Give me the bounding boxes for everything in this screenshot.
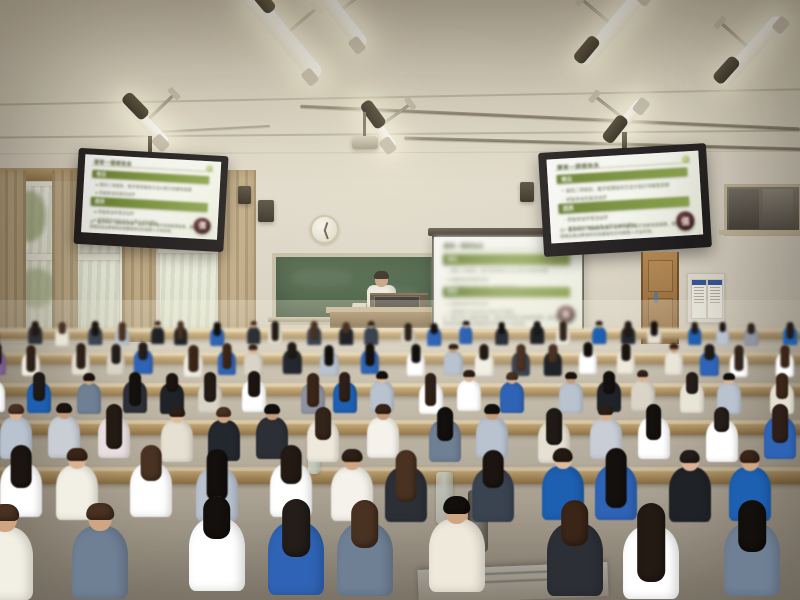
lecturer-hair (374, 271, 389, 279)
student-hair (748, 323, 755, 334)
student (724, 500, 780, 600)
student (459, 321, 473, 345)
monitor-right-panel: 德育一理想信念常见第四二项规划，推学常用指导方法计划引导能性思想积极参加实践活动… (546, 151, 703, 244)
student-hair (443, 496, 471, 513)
corridor-window (724, 184, 800, 236)
notice-line (694, 296, 704, 297)
student-hair (480, 344, 489, 360)
wall-monitor-left: 德育一理想信念常见第四二项规划，推学常用指导方法计划引导能性思想积极参加实践活动… (73, 148, 228, 252)
student-hair (307, 373, 319, 407)
student-hair (719, 322, 726, 333)
notice-line (694, 290, 704, 291)
curtain-middle (52, 170, 78, 330)
student-hair (214, 322, 221, 336)
student-hair (425, 373, 437, 405)
student-hair (288, 342, 297, 358)
student-hair (405, 323, 412, 341)
student (308, 321, 322, 345)
student (688, 322, 702, 346)
door-handle[interactable] (654, 292, 658, 303)
student-hair (315, 407, 331, 440)
audience-seating (0, 318, 800, 600)
student-hair (169, 407, 185, 417)
student-hair (272, 321, 279, 340)
student (647, 321, 661, 345)
student-hair (223, 343, 232, 368)
student-hair (119, 322, 126, 341)
notice-sheet (707, 279, 723, 319)
notice-line (694, 293, 704, 294)
student-hair (772, 404, 788, 443)
student-hair (546, 408, 562, 445)
student-hair (646, 404, 662, 439)
student-hair (411, 344, 420, 363)
student-torso (429, 519, 485, 592)
student (495, 322, 509, 346)
slide-section-header-2: 团员 (443, 287, 570, 297)
student (578, 342, 596, 375)
notice-board (687, 273, 725, 323)
ceiling-projector (352, 136, 378, 149)
student-hair (462, 321, 469, 325)
student-hair (679, 450, 700, 463)
slide-bullet: 积极参加实践活动学 (447, 276, 571, 285)
student-hair (552, 448, 573, 461)
student-hair (723, 373, 735, 380)
student-hair (484, 404, 500, 414)
student-hair (32, 321, 39, 336)
student-hair (561, 500, 589, 547)
notice-line (710, 299, 720, 300)
student-hair (204, 372, 216, 402)
notice-line (694, 299, 704, 300)
student-hair (83, 373, 95, 380)
student-torso (151, 327, 165, 345)
wall-speaker-right (520, 182, 534, 202)
student-hair (8, 404, 24, 414)
student-hair (67, 448, 88, 461)
student-hair (0, 504, 19, 521)
student (89, 321, 103, 345)
student-hair (565, 372, 577, 379)
student-hair (203, 496, 231, 540)
lecture-hall-photo: 德育一理想信念常见第四二项规划，推学常用指导方法计划引导能性思想积极参加实践活动… (0, 0, 800, 600)
notice-sheet-header (708, 280, 722, 285)
student (71, 343, 89, 376)
student-hair (651, 321, 658, 336)
student-hair (250, 321, 257, 325)
curtain-left (0, 170, 26, 338)
student-hair (787, 322, 794, 340)
wall-clock (310, 215, 339, 244)
monitor-left-panel: 德育一理想信念常见第四二项规划，推学常用指导方法计划引导能性思想积极参加实践活动… (81, 154, 221, 239)
student (745, 323, 759, 347)
student-hair (248, 371, 260, 398)
student (151, 321, 165, 345)
student-hair (734, 345, 743, 371)
student-hair (11, 445, 32, 487)
notice-line (710, 296, 720, 297)
student (783, 322, 797, 346)
notice-sheet-header (692, 280, 706, 285)
student-hair (621, 343, 630, 362)
student-hair (86, 503, 114, 520)
slide-bullet: 第四二项规划，推学常用指导方法计划引导能性思想 (447, 267, 571, 276)
student-hair (207, 449, 228, 501)
student (189, 496, 245, 597)
student-hair (705, 344, 714, 359)
student-torso (459, 326, 473, 344)
student-hair (498, 322, 505, 334)
student-hair (437, 407, 453, 441)
chalk-smudge (292, 269, 352, 287)
student-hair (177, 321, 184, 340)
student-hair (59, 322, 66, 334)
student-hair (534, 321, 541, 335)
student-hair (548, 344, 557, 363)
student (283, 342, 301, 375)
student-hair (341, 449, 362, 462)
student (72, 503, 128, 600)
student-torso (0, 527, 33, 600)
student-hair (56, 403, 72, 413)
slide-content-left: 德育一理想信念常见第四二项规划，推学常用指导方法计划引导能性思想积极参加实践活动… (81, 154, 221, 239)
student (130, 445, 172, 521)
student-hair (739, 450, 760, 463)
student-hair (27, 345, 36, 372)
student-hair (76, 343, 85, 368)
student (55, 322, 69, 346)
student-hair (141, 445, 162, 481)
student-hair (325, 345, 334, 366)
slide-bullet: 积极参加学常活动学 (447, 300, 571, 309)
student-hair (583, 342, 592, 357)
student (28, 321, 42, 345)
student (247, 321, 261, 345)
classroom-ceiling (0, 0, 800, 150)
student-hair (686, 372, 698, 395)
student-hair (596, 321, 603, 325)
student-hair (637, 370, 649, 377)
student (98, 404, 130, 462)
student-hair (351, 500, 379, 549)
student (337, 500, 393, 600)
student-hair (365, 343, 374, 366)
student-hair (129, 372, 141, 406)
student-hair (283, 499, 311, 557)
wall-monitor-right: 德育一理想信念常见第四二项规划，推学常用指导方法计划引导能性思想积极参加实践活动… (538, 143, 712, 257)
student-hair (249, 344, 258, 350)
student-hair (506, 372, 518, 379)
door-panel (648, 260, 673, 292)
student-hair (339, 372, 351, 402)
student-hair (780, 345, 789, 368)
student-hair (714, 407, 730, 431)
student-hair (189, 345, 198, 371)
student (134, 342, 152, 375)
student (557, 321, 571, 345)
student-hair (112, 344, 121, 364)
slide-accent-dot (205, 165, 212, 172)
student-hair (776, 373, 788, 399)
slide-content-right: 德育一理想信念常见第四二项规划，推学常用指导方法计划引导能性思想积极参加实践活动… (546, 151, 703, 244)
student (268, 321, 282, 345)
student-hair (92, 321, 99, 336)
projector-mount-arm (363, 112, 366, 138)
student (623, 503, 679, 600)
notice-line (710, 290, 720, 291)
notice-line (710, 293, 720, 294)
student (340, 322, 354, 346)
student-hair (33, 372, 45, 401)
student-hair (265, 404, 281, 414)
student-hair (139, 342, 148, 359)
student-hair (375, 404, 391, 414)
student (638, 404, 670, 462)
corridor-window-pane (763, 189, 793, 229)
student (680, 372, 704, 415)
student (427, 323, 441, 347)
student-hair (603, 371, 615, 394)
student-hair (396, 450, 417, 502)
notice-line (694, 302, 704, 303)
student (174, 321, 188, 345)
notice-sheet (691, 279, 707, 319)
student (547, 500, 603, 600)
student (268, 499, 324, 600)
student-hair (606, 448, 627, 508)
notice-line (710, 302, 720, 303)
corridor-window-sill (719, 230, 800, 235)
student-hair (106, 404, 122, 449)
student-torso (72, 526, 128, 599)
student-hair (739, 500, 767, 552)
student-hair (517, 344, 526, 371)
notice-line (694, 287, 704, 288)
student-hair (311, 321, 318, 339)
student-hair (691, 322, 698, 334)
student-hair (281, 445, 302, 484)
student-hair (625, 321, 632, 337)
student-hair (637, 503, 665, 582)
student-hair (376, 371, 388, 378)
wall-speaker-left (258, 200, 274, 222)
student (0, 504, 33, 600)
student-hair (166, 373, 178, 393)
wall-speaker-left-2 (238, 186, 251, 204)
student-hair (669, 343, 678, 349)
student (429, 407, 461, 465)
student-hair (431, 323, 438, 334)
student-hair (154, 321, 161, 325)
student-hair (560, 321, 567, 340)
student (716, 322, 730, 346)
student-hair (368, 321, 375, 325)
student-hair (598, 405, 614, 415)
corridor-window-pane (729, 189, 759, 229)
student (530, 321, 544, 345)
student-hair (343, 322, 350, 334)
notice-line (710, 287, 720, 288)
student-hair (463, 370, 475, 377)
student-hair (216, 407, 232, 417)
student-hair (483, 450, 504, 488)
student-torso (247, 327, 261, 345)
student-hair (0, 343, 1, 365)
student-hair (449, 344, 458, 350)
student (429, 496, 485, 597)
